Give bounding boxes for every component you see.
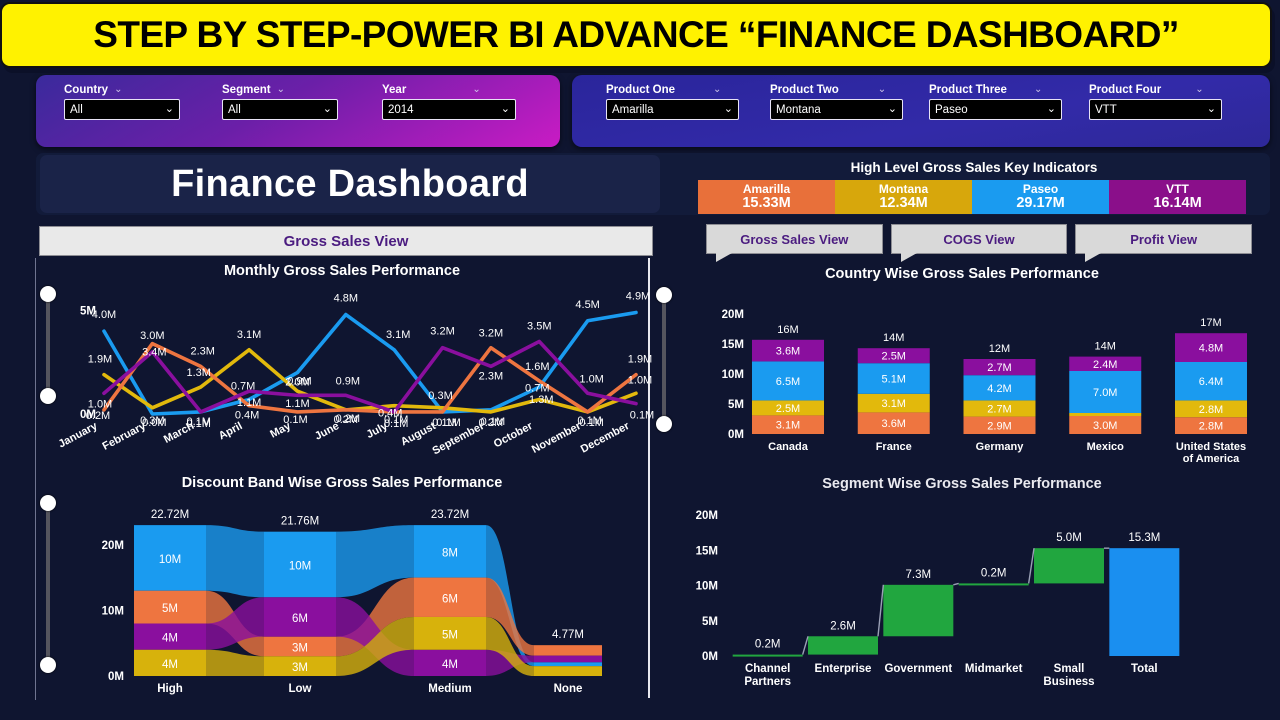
data-label: 3.1M: [237, 329, 261, 341]
left-view-header[interactable]: Gross Sales View: [39, 226, 653, 256]
x-tick-label: High: [157, 683, 183, 695]
x-tick-label: United States: [1176, 441, 1246, 453]
slicer-segment-value: All: [228, 104, 241, 116]
y-tick-label: 10M: [102, 605, 124, 617]
segment-label: 2.5M: [776, 403, 800, 415]
segment-label: 3.0M: [1093, 420, 1117, 432]
slicer-product-three-dropdown[interactable]: Paseo ⌄: [929, 99, 1062, 120]
connector-line: [803, 636, 808, 654]
data-label: 3.5M: [527, 321, 551, 333]
view-button-gross-sales-view[interactable]: Gross Sales View: [706, 224, 883, 254]
segment-label: 7.0M: [1093, 387, 1117, 399]
waterfall-bar-3: [959, 583, 1029, 585]
x-tick-label: Low: [289, 683, 312, 695]
slicer-country-value: All: [70, 104, 83, 116]
segment-label: 2.7M: [987, 404, 1011, 416]
slicer-product-four[interactable]: Product Four ⌄ VTT ⌄: [1089, 84, 1227, 120]
chevron-down-icon[interactable]: ⌄: [472, 85, 480, 95]
kpi-name: VTT: [1166, 183, 1189, 196]
slicer-year[interactable]: Year ⌄ 2014 ⌄: [382, 84, 517, 120]
node-label: 10M: [159, 554, 181, 566]
slicer-year-value: 2014: [388, 104, 414, 116]
data-label: 3.2M: [479, 328, 503, 340]
data-label: 0.1M: [630, 410, 654, 422]
node-montana: [534, 666, 602, 676]
bar-segment-montana: [1069, 413, 1141, 416]
connector-line: [953, 583, 958, 584]
node-total-label: 22.72M: [151, 509, 189, 521]
chevron-down-icon[interactable]: ⌄: [277, 85, 285, 95]
y-tick-label: 0M: [728, 429, 744, 441]
segment-label: 3.1M: [882, 398, 906, 410]
chevron-down-icon: ⌄: [501, 104, 510, 115]
dashboard-title-card: Finance Dashboard: [40, 155, 660, 213]
node-label: 8M: [442, 547, 458, 559]
segment-label: 3.6M: [882, 418, 906, 430]
waterfall-label: 0.2M: [981, 567, 1007, 579]
segment-label: 3.1M: [776, 420, 800, 432]
x-tick-label: None: [554, 683, 583, 695]
bar-total-label: 14M: [883, 332, 904, 344]
node-label: 4M: [162, 659, 178, 671]
segment-label: 2.8M: [1199, 421, 1223, 433]
segment-label: 2.7M: [987, 362, 1011, 374]
slicer-country-label: Country: [64, 84, 108, 96]
data-label: 1.6M: [525, 361, 549, 373]
waterfall-label: 5.0M: [1056, 532, 1082, 544]
view-button-group: Gross Sales ViewCOGS ViewProfit View: [706, 224, 1252, 254]
slicer-product-three[interactable]: Product Three ⌄ Paseo ⌄: [929, 84, 1067, 120]
kpi-name: Montana: [879, 183, 928, 196]
node-label: 5M: [442, 629, 458, 641]
data-label: 0.2M: [336, 413, 360, 425]
monthly-line-plot: 0M5M4.0M0.0M0.1M0.7M2.0M4.8M3.1M0.1M0.2M…: [36, 260, 648, 460]
slicer-panel-right: Product One ⌄ Amarilla ⌄ Product Two ⌄ M…: [572, 75, 1270, 147]
waterfall-bar-0: [733, 655, 803, 657]
kpi-value: 12.34M: [879, 196, 927, 211]
slicer-product-one[interactable]: Product One ⌄ Amarilla ⌄: [606, 84, 744, 120]
x-tick-label: Mexico: [1087, 441, 1125, 453]
x-tick-label: January: [57, 420, 101, 451]
view-button-profit-view[interactable]: Profit View: [1075, 224, 1252, 254]
node-total-label: 21.76M: [281, 516, 319, 528]
y-tick-label: 15M: [722, 339, 744, 351]
slicer-product-one-dropdown[interactable]: Amarilla ⌄: [606, 99, 739, 120]
y-tick-label: 15M: [696, 545, 718, 557]
slicer-product-one-label: Product One: [606, 84, 675, 96]
view-button-label: COGS View: [943, 232, 1014, 247]
chart-monthly-gross-sales: Monthly Gross Sales Performance0M5M4.0M0…: [36, 260, 648, 460]
kpi-value: 29.17M: [1016, 196, 1064, 211]
data-label: 4.0M: [92, 309, 116, 321]
slicer-product-two-label: Product Two: [770, 84, 839, 96]
x-tick-label: France: [876, 441, 912, 453]
page-title-banner: STEP BY STEP-POWER BI ADVANCE “FINANCE D…: [0, 2, 1272, 68]
data-label: 4.8M: [334, 293, 358, 305]
slicer-product-four-value: VTT: [1095, 104, 1117, 116]
waterfall-bar-5: [1109, 548, 1179, 656]
slicer-product-one-value: Amarilla: [612, 104, 654, 116]
data-label: 1.0M: [88, 398, 112, 410]
slicer-product-three-value: Paseo: [935, 104, 968, 116]
chart-discount-band: Discount Band Wise Gross Sales Performan…: [36, 470, 648, 698]
bar-total-label: 16M: [777, 324, 798, 336]
x-tick-label: Total: [1131, 663, 1158, 675]
node-label: 6M: [292, 613, 308, 625]
data-label: 0.7M: [525, 383, 549, 395]
data-label: 1.3M: [529, 394, 553, 406]
slicer-product-two-value: Montana: [776, 104, 821, 116]
x-tick-label: Channel: [745, 663, 790, 675]
kpi-row: Amarilla15.33MMontana12.34MPaseo29.17MVT…: [698, 180, 1246, 214]
data-label: 4.5M: [575, 299, 599, 311]
segment-waterfall-plot: 0M5M10M15M20M0.2MChannelPartners2.6MEnte…: [652, 468, 1272, 698]
connector-line: [878, 585, 883, 636]
data-label: 1.1M: [285, 398, 309, 410]
x-tick-label: Canada: [768, 441, 809, 453]
data-label: 3.2M: [430, 326, 454, 338]
y-tick-label: 0M: [108, 671, 124, 683]
chart-country-gross-sales: Country Wise Gross Sales Performance0M5M…: [652, 262, 1272, 462]
dashboard-title: Finance Dashboard: [171, 163, 529, 206]
x-tick-label: June: [313, 420, 341, 443]
y-tick-label: 10M: [696, 581, 718, 593]
data-label: 0.1M: [579, 417, 603, 429]
slicer-panel-left: Country ⌄ All ⌄ Segment ⌄ All ⌄ Year ⌄ 2…: [36, 75, 560, 147]
x-tick-label: Government: [884, 663, 952, 675]
slicer-product-four-dropdown[interactable]: VTT ⌄: [1089, 99, 1222, 120]
segment-label: 2.8M: [1199, 404, 1223, 416]
waterfall-label: 7.3M: [906, 569, 932, 581]
data-label: 0.1M: [481, 416, 505, 428]
slicer-segment-dropdown[interactable]: All ⌄: [222, 99, 338, 120]
node-label: 4M: [162, 633, 178, 645]
y-tick-label: 5M: [728, 399, 744, 411]
waterfall-label: 0.2M: [755, 639, 781, 651]
x-tick-label: Enterprise: [815, 663, 872, 675]
waterfall-bar-4: [1034, 548, 1104, 583]
chevron-down-icon[interactable]: ⌄: [1195, 85, 1203, 95]
x-tick-label: Medium: [428, 683, 471, 695]
data-label: 0.9M: [336, 375, 360, 387]
kpi-value: 15.33M: [742, 196, 790, 211]
chevron-down-icon: ⌄: [323, 104, 332, 115]
y-tick-label: 0M: [702, 651, 718, 663]
data-label: 4.9M: [626, 291, 650, 303]
segment-label: 3.6M: [776, 346, 800, 358]
x-tick-label: of America: [1183, 453, 1240, 465]
segment-label: 6.5M: [776, 376, 800, 388]
connector-line: [1029, 548, 1034, 583]
x-tick-label: Small: [1054, 663, 1085, 675]
data-label: 0.3M: [428, 390, 452, 402]
chevron-down-icon[interactable]: ⌄: [114, 85, 122, 95]
segment-label: 2.4M: [1093, 359, 1117, 371]
node-vtt: [534, 656, 602, 663]
slicer-segment[interactable]: Segment ⌄ All ⌄: [222, 84, 352, 120]
data-label: 2.3M: [479, 370, 503, 382]
waterfall-label: 15.3M: [1128, 532, 1160, 544]
kpi-tile-paseo[interactable]: Paseo29.17M: [972, 180, 1109, 214]
slicer-product-two[interactable]: Product Two ⌄ Montana ⌄: [770, 84, 908, 120]
view-button-label: Gross Sales View: [740, 232, 848, 247]
slicer-product-two-dropdown[interactable]: Montana ⌄: [770, 99, 903, 120]
segment-label: 2.9M: [987, 420, 1011, 432]
ribbon-paseo: [206, 525, 264, 597]
node-label: 3M: [292, 642, 308, 654]
x-tick-label: Partners: [744, 676, 791, 688]
node-label: 3M: [292, 662, 308, 674]
bar-total-label: 14M: [1095, 341, 1116, 353]
kpi-section-title: High Level Gross Sales Key Indicators: [700, 160, 1248, 178]
chevron-down-icon: ⌄: [888, 104, 897, 115]
line-series-vtt: [104, 342, 636, 412]
kpi-tile-montana[interactable]: Montana12.34M: [835, 180, 972, 214]
x-tick-label: April: [217, 420, 245, 442]
waterfall-bar-2: [883, 585, 953, 636]
data-label: 0.9M: [287, 375, 311, 387]
kpi-name: Paseo: [1023, 183, 1058, 196]
waterfall-label: 2.6M: [830, 620, 856, 632]
node-label: 6M: [442, 593, 458, 605]
slicer-product-four-label: Product Four: [1089, 84, 1161, 96]
x-tick-label: Germany: [976, 441, 1025, 453]
view-button-cogs-view[interactable]: COGS View: [891, 224, 1068, 254]
kpi-value: 16.14M: [1153, 196, 1201, 211]
x-tick-label: November: [530, 420, 584, 456]
waterfall-bar-1: [808, 636, 878, 654]
view-button-label: Profit View: [1130, 232, 1197, 247]
data-label: 3.0M: [140, 330, 164, 342]
discount-ribbon-plot: 0M10M20M10M5M4M4M22.72MHigh10M3M6M3M21.7…: [36, 470, 648, 698]
y-tick-label: 20M: [102, 540, 124, 552]
kpi-name: Amarilla: [743, 183, 790, 196]
chevron-down-icon[interactable]: ⌄: [713, 85, 721, 95]
data-label: 3.4M: [142, 347, 166, 359]
x-tick-label: February: [101, 420, 149, 453]
slicer-product-three-label: Product Three: [929, 84, 1007, 96]
data-label: 1.1M: [237, 397, 261, 409]
line-series-paseo: [104, 313, 636, 415]
bar-total-label: 12M: [989, 343, 1010, 355]
chevron-down-icon: ⌄: [165, 104, 174, 115]
slicer-year-label: Year: [382, 84, 406, 96]
bar-total-label: 17M: [1200, 317, 1221, 329]
data-label: 3.1M: [386, 329, 410, 341]
segment-label: 6.4M: [1199, 376, 1223, 388]
data-label: 2.3M: [190, 345, 214, 357]
segment-label: 4.2M: [987, 383, 1011, 395]
kpi-tile-amarilla[interactable]: Amarilla15.33M: [698, 180, 835, 214]
data-label: 1.9M: [628, 354, 652, 366]
chevron-down-icon[interactable]: ⌄: [878, 85, 886, 95]
left-view-header-label: Gross Sales View: [284, 233, 409, 250]
segment-label: 4.8M: [1199, 343, 1223, 355]
slicer-country[interactable]: Country ⌄ All ⌄: [64, 84, 194, 120]
y-tick-label: 20M: [722, 309, 744, 321]
y-tick-label: 20M: [696, 510, 718, 522]
chart-segment-waterfall: Segment Wise Gross Sales Performance0M5M…: [652, 468, 1272, 698]
y-tick-label: 5M: [702, 616, 718, 628]
x-tick-label: Midmarket: [965, 663, 1023, 675]
node-total-label: 23.72M: [431, 509, 469, 521]
data-label: 0.7M: [231, 381, 255, 393]
node-amarilla: [534, 645, 602, 655]
slicer-country-dropdown[interactable]: All ⌄: [64, 99, 180, 120]
slicer-year-dropdown[interactable]: 2014 ⌄: [382, 99, 516, 120]
chevron-down-icon: ⌄: [1047, 104, 1056, 115]
node-label: 10M: [289, 560, 311, 572]
y-tick-label: 10M: [722, 369, 744, 381]
slicer-segment-label: Segment: [222, 84, 271, 96]
x-tick-label: Business: [1043, 676, 1094, 688]
data-label: 1.0M: [628, 374, 652, 386]
data-label: 1.3M: [186, 367, 210, 379]
line-series-amarilla: [104, 344, 636, 412]
kpi-tile-vtt[interactable]: VTT16.14M: [1109, 180, 1246, 214]
segment-label: 5.1M: [882, 374, 906, 386]
chevron-down-icon: ⌄: [1207, 104, 1216, 115]
node-label: 5M: [162, 603, 178, 615]
data-label: 1.9M: [88, 354, 112, 366]
segment-label: 2.5M: [882, 351, 906, 363]
data-label: 1.0M: [579, 373, 603, 385]
node-paseo: [534, 662, 602, 666]
chevron-down-icon[interactable]: ⌄: [1034, 85, 1042, 95]
chevron-down-icon: ⌄: [724, 104, 733, 115]
data-label: 0.2M: [86, 410, 110, 422]
node-label: 4M: [442, 659, 458, 671]
country-stacked-bar-plot: 0M5M10M15M20M3.1M2.5M6.5M3.6M16MCanada3.…: [652, 262, 1272, 462]
page-title: STEP BY STEP-POWER BI ADVANCE “FINANCE D…: [93, 14, 1179, 56]
node-total-label: 4.77M: [552, 629, 584, 641]
x-tick-label: March: [162, 420, 196, 446]
